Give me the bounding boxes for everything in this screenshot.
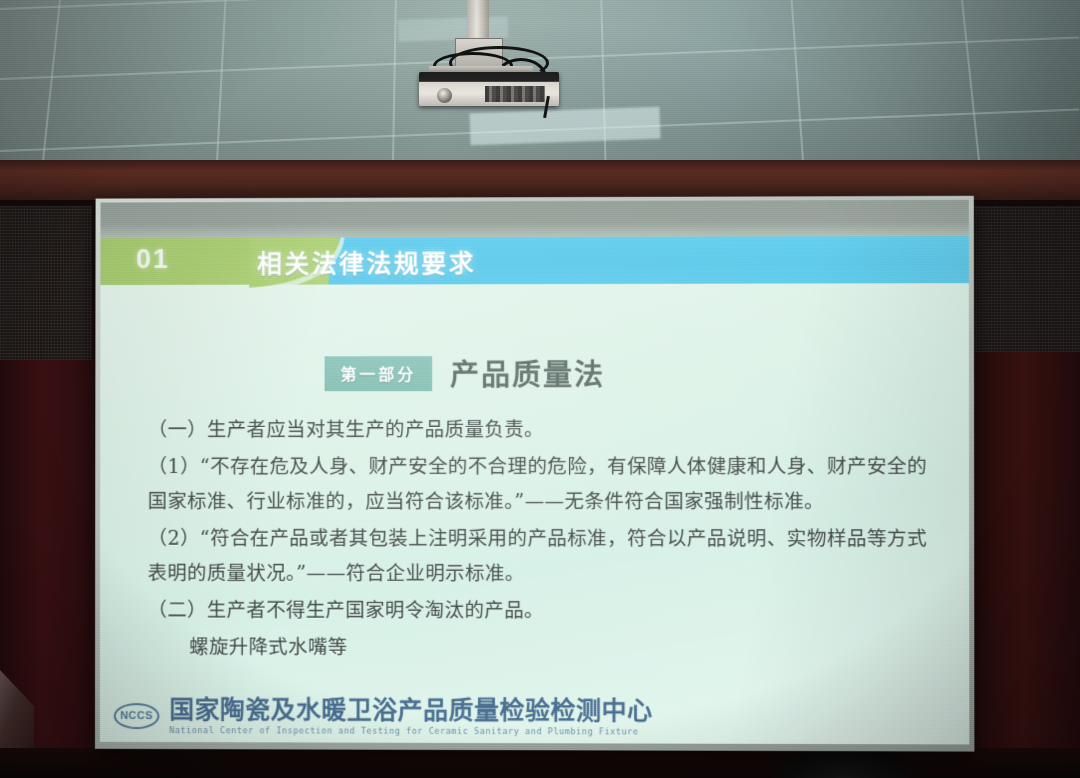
footer-text-group: 国家陶瓷及水暖卫浴产品质量检验检测中心 National Center of I… — [169, 697, 652, 737]
projector-mount-pole — [467, 0, 489, 42]
slide-body: （一）生产者应当对其生产的产品质量负责。 （1）“不存在危及人身、财产安全的不合… — [148, 412, 938, 668]
footer-name-en: National Center of Inspection and Testin… — [169, 727, 652, 737]
projection-screen-frame: 01 相关法律法规要求 第一部分 产品质量法 （一）生产者应当对其生产的产品质量… — [95, 196, 974, 752]
projector-ports — [485, 86, 545, 102]
ceiling-projector — [405, 0, 595, 110]
acoustic-panel-right — [970, 206, 1080, 358]
slide: 01 相关法律法规要求 第一部分 产品质量法 （一）生产者应当对其生产的产品质量… — [100, 233, 969, 745]
screen-top-washout — [100, 200, 968, 238]
body-paragraph: （1）“不存在危及人身、财产安全的不合理的危险，有保障人体健康和人身、财产安全的… — [148, 449, 938, 519]
body-paragraph: （一）生产者应当对其生产的产品质量负责。 — [148, 412, 938, 447]
body-paragraph: 螺旋升降式水嘴等 — [148, 629, 938, 666]
projection-screen-surface: 01 相关法律法规要求 第一部分 产品质量法 （一）生产者应当对其生产的产品质量… — [100, 200, 969, 745]
nccs-badge-label: NCCS — [120, 710, 153, 722]
body-paragraph: （二）生产者不得生产国家明令淘汰的产品。 — [148, 593, 938, 629]
recessed-ceiling-light — [469, 107, 660, 146]
meeting-room-photo: 01 相关法律法规要求 第一部分 产品质量法 （一）生产者应当对其生产的产品质量… — [0, 0, 1080, 778]
slide-header-title: 相关法律法规要求 — [257, 244, 476, 280]
slide-footer: NCCS 国家陶瓷及水暖卫浴产品质量检验检测中心 National Center… — [100, 685, 969, 744]
nccs-logo-icon: NCCS — [114, 703, 160, 729]
acoustic-panel-left — [0, 206, 92, 366]
projector-lens — [437, 88, 452, 103]
slide-number: 01 — [136, 244, 170, 275]
body-paragraph: （2）“符合在产品或者其包装上注明采用的产品标准，符合以产品说明、实物样品等方式… — [148, 521, 938, 592]
section-chip: 第一部分 — [325, 356, 433, 391]
section-title: 产品质量法 — [450, 352, 605, 394]
section-heading-row: 第一部分 产品质量法 — [325, 352, 605, 394]
footer-name-cn: 国家陶瓷及水暖卫浴产品质量检验检测中心 — [169, 697, 652, 723]
curtain-right — [968, 352, 1080, 778]
